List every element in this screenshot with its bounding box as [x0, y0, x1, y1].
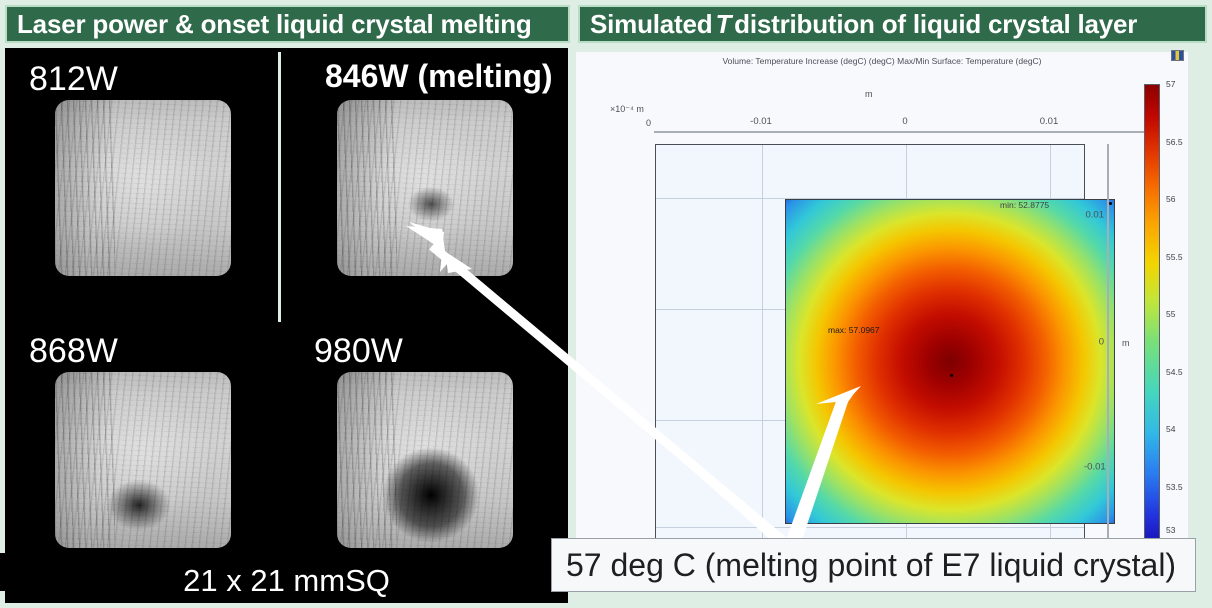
- right-title-pre: Simulated: [590, 9, 712, 40]
- caption-text: 57 deg C (melting point of E7 liquid cry…: [566, 547, 1176, 584]
- mosaic-divider: [278, 52, 281, 322]
- melt-spot: [399, 180, 463, 228]
- min-annotation-label: min: 52.8775: [1000, 200, 1049, 210]
- colorbar-tick: 57: [1166, 79, 1175, 89]
- thermal-plate: [337, 100, 513, 276]
- temperature-colorbar[interactable]: [1144, 84, 1160, 544]
- plot-frame[interactable]: max: 57.0967 min: 52.8775: [655, 144, 1085, 556]
- x-axis-exponent-zero: 0: [646, 118, 651, 128]
- right-axis-tick: 0.01: [1084, 210, 1104, 221]
- temperature-heatmap[interactable]: [785, 199, 1115, 524]
- right-axis-tick: -0.01: [1084, 462, 1104, 473]
- colorbar-tick: 53: [1166, 525, 1175, 535]
- colorbar-tick: 53.5: [1166, 482, 1183, 492]
- colorbar-tick: 55: [1166, 309, 1175, 319]
- horizontal-gridline: [656, 527, 1084, 528]
- right-panel-title: Simulated T distribution of liquid cryst…: [578, 5, 1207, 43]
- ir-image-846w-melting[interactable]: 846W (melting): [282, 48, 568, 326]
- colorbar-tick: 55.5: [1166, 252, 1183, 262]
- top-axis-tick: 0: [902, 116, 907, 127]
- ir-label: 846W (melting): [325, 58, 553, 95]
- x-axis-exponent-label: ×10⁻⁴ m: [610, 104, 644, 115]
- top-axis-unit-label: m: [865, 89, 873, 99]
- comsol-plot: Volume: Temperature Increase (degC) (deg…: [576, 52, 1188, 552]
- vertical-gridline: [762, 145, 763, 555]
- colorbar-tick: 56: [1166, 194, 1175, 204]
- ir-image-812w[interactable]: 812W: [5, 48, 277, 326]
- melt-spot: [95, 470, 183, 540]
- max-annotation-label: max: 57.0967: [828, 325, 880, 335]
- melt-spot: [369, 434, 493, 556]
- thermal-plate: [55, 100, 231, 276]
- colorbar-tick: 56.5: [1166, 137, 1183, 147]
- right-title-italic-T: T: [712, 9, 734, 40]
- top-axis-tick: 0.01: [1040, 116, 1059, 127]
- melting-point-caption: 57 deg C (melting point of E7 liquid cry…: [551, 538, 1196, 592]
- left-panel-title-text: Laser power & onset liquid crystal melti…: [17, 9, 532, 40]
- colorbar-tick: 54: [1166, 424, 1175, 434]
- right-title-post: distribution of liquid crystal layer: [734, 9, 1137, 40]
- right-axis-line: [1107, 144, 1109, 556]
- min-point-marker: [1109, 202, 1112, 205]
- right-axis-unit-label: m: [1122, 338, 1130, 348]
- thermal-plate: [337, 372, 513, 548]
- sample-size-label: 21 x 21 mmSQ: [5, 563, 568, 599]
- left-panel-title: Laser power & onset liquid crystal melti…: [5, 5, 570, 43]
- ir-label: 812W: [29, 60, 118, 99]
- thermal-plate: [55, 372, 231, 548]
- max-point-marker: [950, 374, 953, 377]
- slide-root: Laser power & onset liquid crystal melti…: [0, 0, 1212, 608]
- colorbar-tick: 54.5: [1166, 367, 1183, 377]
- top-axis-tick: -0.01: [750, 116, 772, 127]
- ir-image-mosaic: 812W 846W (melting) 868W 980W 21 x 21 mm…: [5, 48, 568, 603]
- ir-label: 868W: [29, 332, 118, 371]
- top-axis-line: [654, 131, 1156, 133]
- plot-title: Volume: Temperature Increase (degC) (deg…: [576, 56, 1188, 66]
- left-edge-black-bar: [0, 553, 5, 591]
- ir-label: 980W: [314, 332, 403, 371]
- right-axis-tick: 0: [1084, 337, 1104, 348]
- comsol-logo-icon[interactable]: [1171, 50, 1184, 61]
